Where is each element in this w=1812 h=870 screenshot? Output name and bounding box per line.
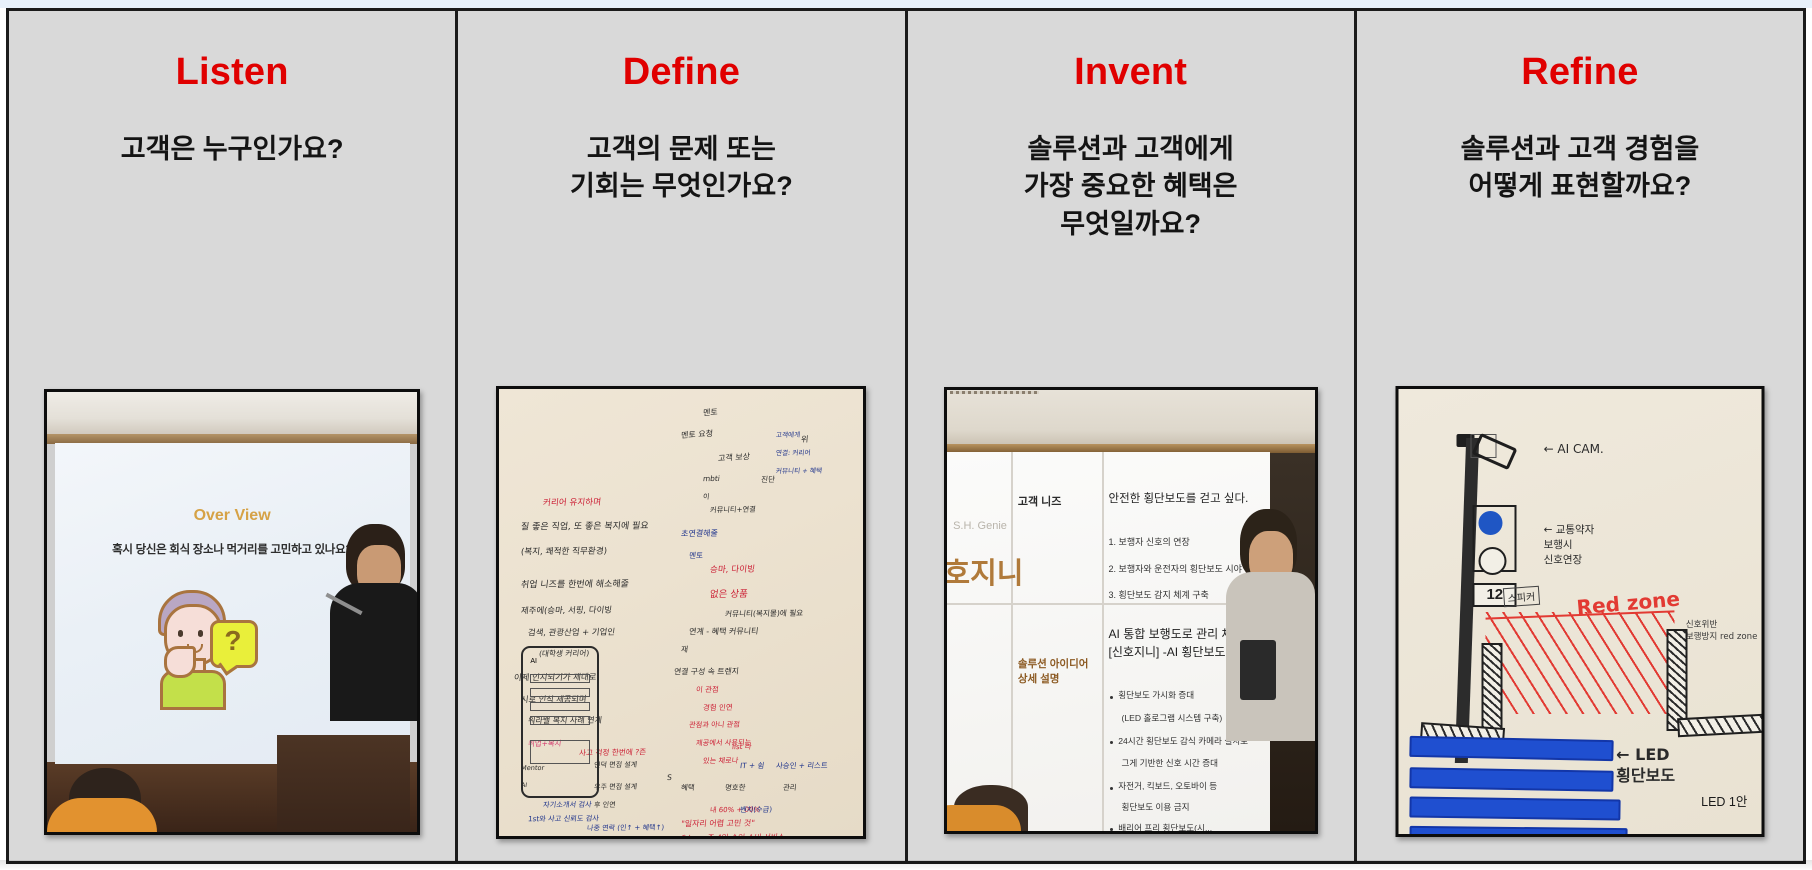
panel-title-invent: Invent (1074, 53, 1187, 91)
table-row2-item-2: (LED 홀로그램 시스템 구축) (1121, 712, 1222, 724)
avatar-eye-left-icon (178, 630, 183, 637)
handwritten-note: 초연결해줄 (681, 527, 719, 538)
handwritten-note: 고객에게 (775, 429, 800, 439)
handwritten-note: 자기소개서 검사 (542, 800, 592, 810)
handwritten-note: 명호한 (724, 782, 746, 793)
panel-question-refine: 솔루션과 고객 경험을 어떻게 표현할까요? (1451, 131, 1710, 206)
ceiling-3 (947, 390, 1315, 447)
bullet-dot-1 (1110, 696, 1113, 699)
handwritten-note: "일자리 어렵 고민 것" (681, 818, 756, 830)
handwritten-note: 우주 면접 설계 (593, 782, 637, 792)
footer-label-led: LED 1안 (1701, 791, 1747, 810)
panel-refine[interactable]: Refine 솔루션과 고객 경험을 어떻게 표현할까요? ← AI CAM. … (1354, 11, 1803, 861)
handwritten-note: 커뮤니티 + 혜택 (775, 465, 822, 475)
table-row2-title: AI 통합 보행도로 관리 체계 [신호지니] -AI 횡단보도 (1109, 626, 1244, 661)
handwritten-note: 벤치(수급) (739, 805, 772, 815)
phone-row-4 (530, 716, 590, 725)
table-row1-item-1: 1. 보행자 신호의 연장 (1109, 535, 1190, 548)
table-row2-item-5: 자전거, 킥보드, 오토바이 등 (1118, 780, 1217, 792)
signal-lamp-white-icon (1478, 547, 1506, 575)
bollard-left (1482, 643, 1503, 736)
table-divider-v1 (1011, 452, 1013, 831)
led-crosswalk-bar-4 (1409, 826, 1627, 834)
table-row1-item-3: 3. 횡단보도 감지 체계 구축 (1109, 588, 1209, 601)
handwritten-note: 검색, 관광산업 + 기업인 (528, 626, 616, 639)
panel-question-listen: 고객은 누구인가요? (111, 131, 354, 168)
photo-frame-listen[interactable]: Over View 혹시 당신은 회식 장소나 먹거리를 고민하고 있나요? (44, 389, 420, 835)
bollard-right (1667, 629, 1688, 731)
red-zone-region (1485, 612, 1674, 714)
handwritten-note: 커리어 유지하며 (542, 496, 601, 509)
handwritten-note: 관리 (783, 782, 798, 793)
handwritten-note: 연계 - 혜택 커뮤니티 (688, 626, 759, 638)
bottom-shadow (0, 860, 1812, 870)
handwritten-brainstorm-photo: 멘토멘토 요청고객 보상위커리어 유지하며질 좋은 직업, 또 좋은 복지에 필… (499, 389, 863, 836)
audience-shoulder (47, 798, 157, 832)
handwritten-note: 연결 구성 속 트렌지 (673, 666, 739, 678)
handwritten-note: 멘토 (703, 406, 718, 418)
phone-row-3 (530, 702, 590, 711)
table-row2-item-6: 횡단보도 이용 금지 (1121, 801, 1189, 813)
annotation-red-zone-detail: 신호위반 보행방지 red zone (1686, 620, 1758, 643)
panel-question-invent: 솔루션과 고객에게 가장 중요한 혜택은 무엇일까요? (1014, 131, 1248, 243)
phone-row-5 (530, 740, 590, 764)
panel-invent[interactable]: Invent 솔루션과 고객에게 가장 중요한 혜택은 무엇일까요? (905, 11, 1354, 861)
panel-define[interactable]: Define 고객의 문제 또는 기회는 무엇인가요? 멘토멘토 요청고객 보상… (455, 11, 904, 861)
bullet-dot-3 (1110, 787, 1113, 790)
panel-listen[interactable]: Listen 고객은 누구인가요? Over View 혹시 당신은 회식 장소… (9, 11, 455, 861)
phone-row-2 (530, 688, 590, 697)
red-zone-hatching (1485, 612, 1674, 714)
thinking-person-illustration: ? (150, 584, 228, 704)
table-divider-h1 (947, 603, 1271, 605)
handwritten-note: 후 인연 (593, 800, 616, 810)
handwritten-note: 없은 상품 (710, 585, 750, 599)
handwritten-note: 질 좋은 직업, 또 좋은 복지에 필요 (520, 518, 649, 532)
panel-title-define: Define (623, 53, 740, 91)
table-row2-item-4: 그게 기반한 신호 시간 증대 (1121, 757, 1218, 769)
phone-label: AI (530, 658, 537, 665)
audience-shoulder-3 (947, 805, 1021, 831)
photo-frame-define[interactable]: 멘토멘토 요청고객 보상위커리어 유지하며질 좋은 직업, 또 좋은 복지에 필… (496, 386, 866, 839)
handwritten-note: list 라 (732, 742, 753, 752)
signal-lamp-blue-icon (1478, 511, 1502, 535)
presenter-person-3 (1226, 509, 1314, 782)
handwritten-note: (복지, 쾌적한 직무환경) (521, 545, 608, 558)
panel-question-define: 고객의 문제 또는 기회는 무엇인가요? (560, 131, 803, 206)
annotation-led-crosswalk: ← LED 횡단보도 (1616, 745, 1675, 787)
question-speech-bubble-icon: ? (210, 620, 258, 668)
photo-frame-invent[interactable]: S.H. Genie 호지니 고객 니즈 안전한 횡단보도를 걷고 싶다. 1.… (944, 387, 1318, 834)
avatar-hand-icon (164, 646, 196, 678)
question-mark-glyph: ? (224, 625, 241, 657)
handwritten-note: 인덕 면접 설계 (593, 760, 637, 770)
handwritten-note: 멘토 (688, 550, 703, 561)
brand-big-label: 호지니 (947, 550, 1024, 592)
handwritten-note: 승마, 다이빙 (710, 563, 756, 576)
table-divider-v2 (1102, 452, 1104, 831)
projection-screen-3: S.H. Genie 호지니 고객 니즈 안전한 횡단보도를 걷고 싶다. 1.… (947, 452, 1271, 831)
handwritten-note: 있는 채로나 (703, 755, 739, 765)
handwritten-note: 진단 (761, 474, 776, 485)
handwritten-note: mbti (703, 474, 721, 483)
handwritten-note: 관점과 아니 관점 (688, 719, 740, 730)
four-panel-slide: Listen 고객은 누구인가요? Over View 혹시 당신은 회식 장소… (6, 8, 1806, 864)
brand-small-label: S.H. Genie (953, 520, 1007, 532)
handwritten-note: 취업 니즈를 한번에 해소해줄 (520, 576, 629, 590)
table-row2-item-1: 횡단보도 가시화 증대 (1118, 689, 1194, 701)
solution-slide-photo: S.H. Genie 호지니 고객 니즈 안전한 횡단보도를 걷고 싶다. 1.… (947, 390, 1315, 831)
table-row2-header: 솔루션 아이디어 상세 설명 (1018, 657, 1089, 687)
phone-row-1 (530, 674, 590, 683)
handwritten-note: 이 관점 (695, 684, 719, 695)
led-crosswalk-bar-2 (1409, 768, 1613, 793)
handwritten-note: 경험 인연 (703, 702, 734, 713)
photo-frame-refine[interactable]: ← AI CAM. 12 ← 교통약자 보행시 신호연장 스피커 Red zon… (1395, 386, 1764, 837)
handwritten-note: S (666, 773, 672, 782)
bullet-dot-2 (1110, 741, 1113, 744)
annotation-speaker: 스피커 (1503, 586, 1540, 607)
handwritten-note: 고객 보상 (717, 451, 750, 464)
ceiling-vent (950, 391, 1038, 394)
crosswalk-concept-sketch-photo: ← AI CAM. 12 ← 교통약자 보행시 신호연장 스피커 Red zon… (1398, 389, 1761, 834)
handwritten-note: 위 (801, 433, 809, 444)
handwritten-note: 커뮤니티(복지몰)에 필요 (724, 608, 803, 620)
projected-slide-title: Over View (55, 507, 410, 525)
annotation-signal-extension: ← 교통약자 보행시 신호연장 (1544, 523, 1595, 569)
table-row2-item-7: 배리어 프리 횡단보도(시... (1118, 822, 1212, 831)
top-blue-band (0, 0, 1812, 8)
handwritten-note: 나중 연락 (인↑ + 혜택↑) (586, 822, 664, 833)
handheld-device-icon (1240, 640, 1275, 700)
handwritten-note: 사승인 + 리스트 (775, 760, 828, 771)
bullet-dot-4 (1110, 828, 1113, 831)
screenshot-canvas: Listen 고객은 누구인가요? Over View 혹시 당신은 회식 장소… (0, 0, 1812, 870)
handwritten-note: IT + 쉼 (739, 760, 765, 771)
ceiling (47, 392, 417, 436)
avatar-eye-right-icon (198, 630, 203, 637)
table-row1-title: 안전한 횡단보도를 걷고 싶다. (1109, 490, 1249, 506)
handwritten-note: 연결: 커리어 (775, 447, 811, 457)
panel-title-listen: Listen (176, 53, 289, 91)
led-crosswalk-bar-3 (1409, 797, 1620, 821)
annotation-ai-cam: ← AI CAM. (1544, 442, 1604, 456)
handwritten-note: 커뮤니티+연결 (710, 505, 757, 516)
handwritten-note: 혜택 (681, 782, 696, 793)
handwritten-note: 제주에(승마, 서핑, 다이빙 (521, 603, 613, 616)
handwritten-note: 6 Jam. 주 4일 수익 소비 서비스 (681, 831, 786, 836)
presenter-person (328, 524, 417, 753)
phone-mockup-sketch: AI (521, 646, 599, 798)
panel-title-refine: Refine (1521, 53, 1638, 91)
table-row1-header: 고객 니즈 (1018, 493, 1062, 509)
lecture-presentation-photo: Over View 혹시 당신은 회식 장소나 먹거리를 고민하고 있나요? (47, 392, 417, 832)
